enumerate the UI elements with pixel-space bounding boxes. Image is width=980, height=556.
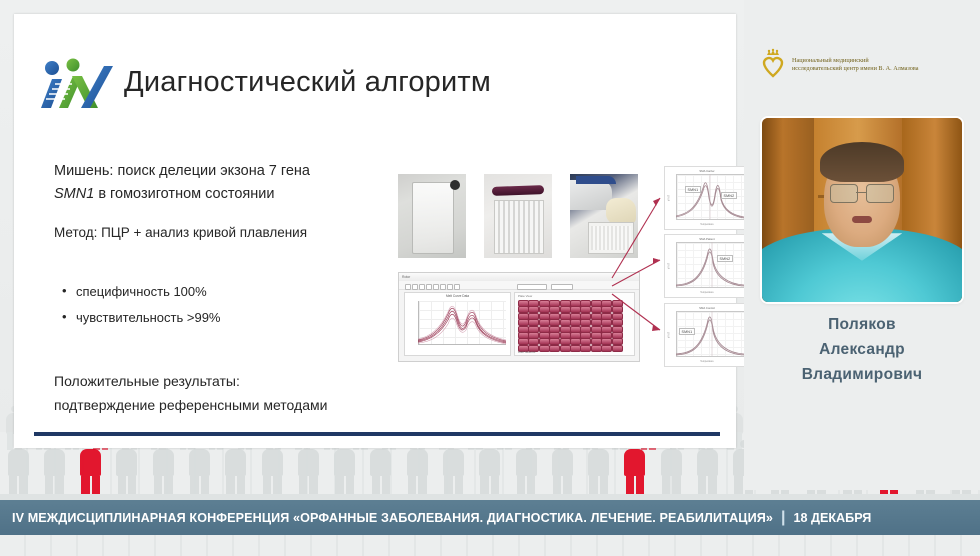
almazov-logo-text: Национальный медицинский исследовательск… <box>792 57 918 74</box>
plate-well[interactable] <box>612 345 623 352</box>
silhouette-person <box>544 440 580 497</box>
melt-x-axis-label: Temperature <box>700 223 713 226</box>
banner-separator: | <box>773 509 793 527</box>
plate-well[interactable] <box>570 345 581 352</box>
silhouette-person <box>218 440 254 497</box>
target-line-1: Мишень: поиск делеции экзона 7 гена <box>54 163 310 179</box>
melt-label-smn2: SMN2 <box>717 255 733 262</box>
silhouette-person <box>653 440 689 497</box>
melt-label-smn1: SMN1 <box>685 186 701 193</box>
almazov-logo-block: Национальный медицинский исследовательск… <box>760 48 970 82</box>
software-window-title: Rotor <box>402 275 410 279</box>
eyeglasses-bridge <box>856 192 866 193</box>
melt-panel-smn1-deleted: SMA Patient SMN2 Temperature dF/dT <box>664 234 750 298</box>
melt-y-axis-label: dF/dT <box>668 332 671 338</box>
slide-divider <box>34 432 720 436</box>
silhouette-person <box>290 440 326 497</box>
melt-label-smn2: SMN2 <box>721 192 737 199</box>
conference-banner: IV МЕЖДИСЦИПЛИНАРНАЯ КОНФЕРЕНЦИЯ «ОРФАНН… <box>0 500 980 535</box>
strip-cap <box>492 185 544 196</box>
melt-panel-title: SMA Carrier <box>699 169 714 173</box>
melt-x-axis-label: Temperature <box>700 360 713 363</box>
imi-logo <box>32 52 116 114</box>
photo-thermocycler <box>570 174 638 258</box>
plate-well[interactable] <box>549 345 560 352</box>
plate-view[interactable]: Plate View Well Selector <box>514 292 635 356</box>
melt-panel-curves <box>676 242 744 287</box>
presentation-slide[interactable]: Диагностический алгоритм Мишень: поиск д… <box>14 14 736 448</box>
plate-well[interactable] <box>560 345 571 352</box>
melt-y-axis-label: dF/dT <box>668 263 671 269</box>
silhouette-person <box>327 440 363 497</box>
silhouette-person-highlighted <box>617 440 653 497</box>
melt-curve-chart: Melt Curve Data <box>404 292 511 356</box>
melt-curve-lines <box>418 301 506 345</box>
melt-panel-title: SMA Patient <box>699 237 714 241</box>
method-text: Метод: ПЦР + анализ кривой плавления <box>54 222 384 243</box>
speaker-name: Поляков Александр Владимирович <box>744 312 980 387</box>
speaker-patronymic: Владимирович <box>802 366 923 383</box>
strip-tubes <box>494 200 544 254</box>
org-line-1: Национальный медицинский <box>792 57 869 64</box>
silhouette-person <box>581 440 617 497</box>
banner-date: 18 ДЕКАБРЯ <box>793 511 871 525</box>
list-item: специфичность 100% <box>60 279 390 305</box>
plate-well[interactable] <box>591 345 602 352</box>
silhouette-person <box>363 440 399 497</box>
silhouette-person <box>36 440 72 497</box>
chart-title: Melt Curve Data <box>446 294 469 298</box>
video-feed[interactable] <box>762 118 962 302</box>
silhouette-person <box>109 440 145 497</box>
positive-line-2: подтверждение референсными методами <box>54 397 327 413</box>
pcr-plate <box>588 222 634 254</box>
melt-panel-heterozygous: SMA Carrier SMN1 SMN2 Temperature dF/dT <box>664 166 750 230</box>
almazov-crown-heart-icon <box>760 48 786 83</box>
silhouette-person-highlighted <box>73 440 109 497</box>
speaker-hair <box>820 142 904 182</box>
silhouette-person <box>508 440 544 497</box>
target-text: Мишень: поиск делеции экзона 7 гена SMN1… <box>54 160 384 206</box>
silhouette-person <box>689 440 725 497</box>
plate-well[interactable] <box>580 345 591 352</box>
speaker-firstname: Александр <box>819 341 905 358</box>
silhouette-person <box>0 440 36 497</box>
well-grid[interactable] <box>518 300 622 351</box>
photo-pcr-strip <box>484 174 552 258</box>
speaker-surname: Поляков <box>828 316 896 333</box>
speaker-mouth <box>852 216 872 223</box>
silhouette-person <box>254 440 290 497</box>
list-item: чувствительность >99% <box>60 305 390 331</box>
plate-view-header: Plate View <box>518 294 532 298</box>
video-scene <box>762 118 962 302</box>
banner-lower-strip <box>0 535 980 556</box>
instrument-lid <box>576 176 616 184</box>
software-toolbar <box>399 281 639 290</box>
banner-title: IV МЕЖДИСЦИПЛИНАРНАЯ КОНФЕРЕНЦИЯ «ОРФАНН… <box>0 511 773 525</box>
melt-label-smn1: SMN1 <box>679 328 695 335</box>
photo-sample-bag <box>398 174 466 258</box>
melt-panel-smn2-absent: SMA Control SMN1 Temperature dF/dT <box>664 303 750 367</box>
silhouette-person <box>145 440 181 497</box>
positive-results-text: Положительные результаты: подтверждение … <box>54 369 414 417</box>
silhouette-person <box>435 440 471 497</box>
plate-view-footer: Well Selector <box>518 350 536 354</box>
metrics-list: специфичность 100% чувствительность >99% <box>60 279 390 331</box>
pcr-software-window: Rotor Melt Curve Data <box>398 272 640 362</box>
melt-panel-title: SMA Control <box>699 306 715 310</box>
positive-line-1: Положительные результаты: <box>54 373 240 389</box>
gloved-hand <box>606 198 636 224</box>
silhouette-person <box>399 440 435 497</box>
silhouette-person <box>181 440 217 497</box>
page-title: Диагностический алгоритм <box>124 66 491 99</box>
melt-x-axis-label: Temperature <box>700 291 713 294</box>
target-line-2: в гомозиготном состоянии <box>94 186 274 202</box>
eyeglasses-left-lens <box>830 184 858 203</box>
plate-well[interactable] <box>539 345 550 352</box>
silhouette-person <box>472 440 508 497</box>
plate-well[interactable] <box>601 345 612 352</box>
org-line-2: исследовательский центр имени В. А. Алма… <box>792 65 918 72</box>
gene-name: SMN1 <box>54 186 94 202</box>
melt-y-axis-label: dF/dT <box>668 195 671 201</box>
speaker-video-panel[interactable]: Национальный медицинский исследовательск… <box>744 0 980 490</box>
eyeglasses-right-lens <box>866 184 894 203</box>
